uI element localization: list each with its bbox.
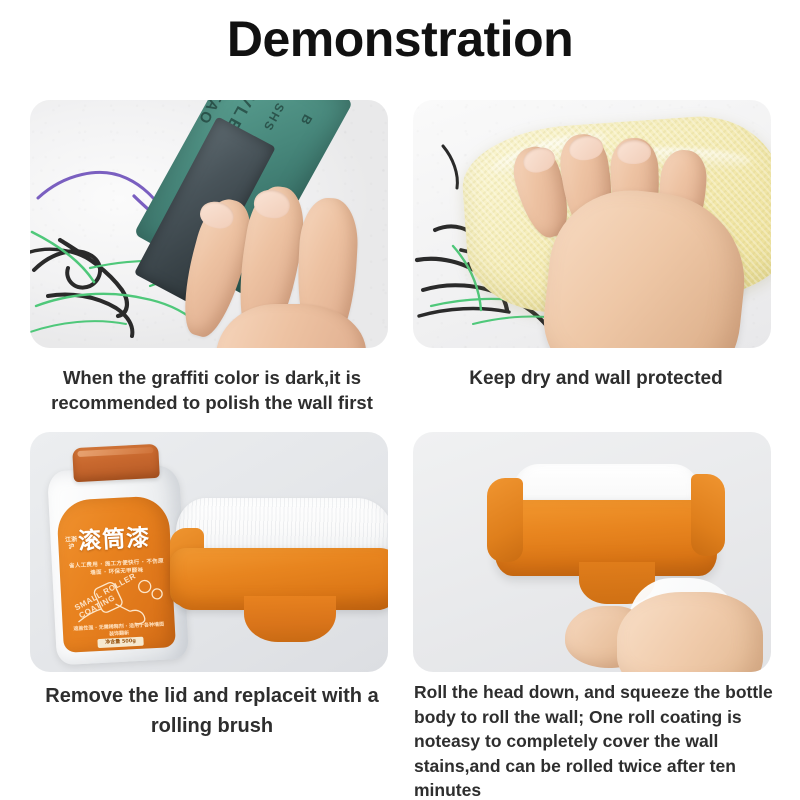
product-bottle: 江浙沪 滚筒漆 省人工费用 · 施工方便快行 · 不伤原墙面 · 环保无甲醛味 … — [52, 446, 184, 662]
step-3-caption: Remove the lid and replaceit with a roll… — [22, 681, 402, 741]
roller-left-arm — [487, 478, 523, 562]
step-4-caption: Roll the head down, and squeeze the bott… — [414, 680, 786, 800]
step-1-image: QETAO OVLED SHS B — [30, 100, 388, 348]
product-label: 江浙沪 滚筒漆 省人工费用 · 施工方便快行 · 不伤原墙面 · 环保无甲醛味 … — [56, 495, 176, 653]
block-text-3: SHS — [260, 101, 287, 135]
roller-brush-head — [170, 498, 388, 646]
hand — [184, 154, 388, 348]
label-side-text: 江浙沪 — [65, 536, 78, 551]
hand-squeezing-bottle — [565, 582, 755, 672]
label-main-text: 滚筒漆 — [78, 525, 165, 553]
palm — [617, 592, 763, 672]
demonstration-infographic: Demonstration QETAO OVLED — [0, 0, 800, 800]
roller-bottle-neck — [244, 596, 336, 642]
label-net-weight-badge: 净含量 500g — [97, 637, 143, 648]
roller-brush-head — [487, 464, 725, 594]
page-title: Demonstration — [0, 14, 800, 64]
step-3-image: 江浙沪 滚筒漆 省人工费用 · 施工方便快行 · 不伤原墙面 · 环保无甲醛味 … — [30, 432, 388, 672]
step-2-caption: Keep dry and wall protected — [410, 366, 782, 391]
step-4-image — [413, 432, 771, 672]
hand — [509, 136, 759, 348]
roller-right-arm — [691, 474, 725, 556]
step-1-caption: When the graffiti color is dark,it is re… — [22, 365, 402, 415]
bottle-cap — [72, 444, 160, 482]
block-text-4: B — [297, 112, 315, 128]
step-2-image — [413, 100, 771, 348]
